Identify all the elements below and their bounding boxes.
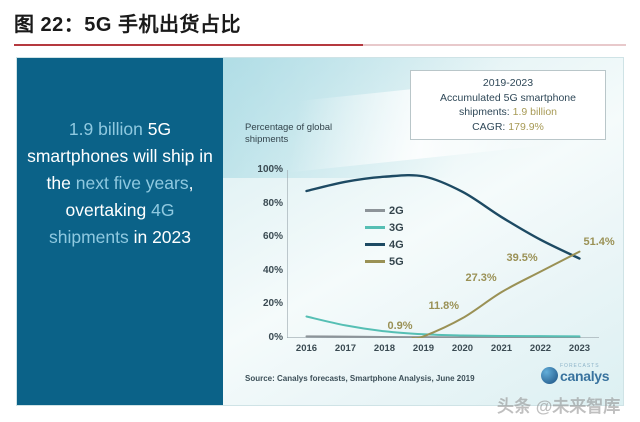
data-label-5g-2023: 51.4% bbox=[584, 236, 615, 248]
y-tick-20pct: 20% bbox=[243, 298, 283, 309]
x-tick-2023: 2023 bbox=[560, 343, 599, 359]
x-tick-2021: 2021 bbox=[482, 343, 521, 359]
globe-icon bbox=[541, 367, 558, 384]
callout-text: 2019-2023 Accumulated 5G smartphone ship… bbox=[440, 76, 576, 134]
y-axis-title: Percentage of global shipments bbox=[245, 122, 365, 146]
legend-item-5G[interactable]: 5G bbox=[365, 253, 404, 270]
line-chart-svg bbox=[287, 170, 599, 338]
source-note: Source: Canalys forecasts, Smartphone An… bbox=[245, 374, 475, 383]
data-label-5g-2020: 11.8% bbox=[429, 300, 460, 312]
callout-box: 2019-2023 Accumulated 5G smartphone ship… bbox=[410, 70, 606, 140]
data-label-5g-2022: 39.5% bbox=[507, 252, 538, 264]
callout-line-4: CAGR: 179.9% bbox=[440, 120, 576, 135]
x-tick-2016: 2016 bbox=[287, 343, 326, 359]
legend-item-2G[interactable]: 2G bbox=[365, 202, 404, 219]
chart-axes bbox=[287, 170, 599, 338]
series-line-5G bbox=[413, 252, 580, 338]
y-axis-tick-labels: 0%20%40%60%80%100% bbox=[237, 163, 283, 345]
y-tick-80pct: 80% bbox=[243, 198, 283, 209]
series-line-3G bbox=[307, 316, 580, 336]
data-label-5g-2021: 27.3% bbox=[466, 272, 497, 284]
legend-label-5G: 5G bbox=[389, 256, 404, 268]
quote-panel: 1.9 billion 5G smartphones will ship in … bbox=[17, 58, 223, 405]
legend-swatch-4G bbox=[365, 243, 385, 246]
legend-swatch-3G bbox=[365, 226, 385, 229]
x-tick-2017: 2017 bbox=[326, 343, 365, 359]
x-tick-2020: 2020 bbox=[443, 343, 482, 359]
x-tick-2022: 2022 bbox=[521, 343, 560, 359]
callout-line-3: shipments: 1.9 billion bbox=[440, 105, 576, 120]
caption-divider bbox=[14, 44, 626, 46]
plot-area bbox=[287, 170, 599, 338]
quote-segment-3: next five years bbox=[76, 173, 189, 193]
quote-segment-6: in 2023 bbox=[129, 227, 191, 247]
page-title: 图 22：5G 手机出货占比 bbox=[14, 8, 241, 37]
legend-swatch-2G bbox=[365, 209, 385, 212]
y-tick-100pct: 100% bbox=[243, 164, 283, 175]
logo-wordmark: canalys bbox=[560, 368, 609, 384]
x-axis-tick-labels: 20162017201820192020202120222023 bbox=[287, 343, 599, 359]
quote-text: 1.9 billion 5G smartphones will ship in … bbox=[27, 116, 213, 251]
chart-panel: 2019-2023 Accumulated 5G smartphone ship… bbox=[223, 58, 623, 405]
chart-legend: 2G3G4G5G bbox=[365, 202, 404, 270]
canalys-logo: FORECASTS canalys bbox=[541, 364, 623, 390]
chart-series-lines bbox=[307, 175, 580, 338]
callout-line-1: 2019-2023 bbox=[440, 76, 576, 91]
y-tick-40pct: 40% bbox=[243, 265, 283, 276]
y-tick-0pct: 0% bbox=[243, 332, 283, 343]
series-line-4G bbox=[307, 175, 580, 258]
x-tick-2019: 2019 bbox=[404, 343, 443, 359]
slide-image: 1.9 billion 5G smartphones will ship in … bbox=[17, 58, 623, 405]
legend-label-2G: 2G bbox=[389, 205, 404, 217]
callout-line-3-prefix: shipments: bbox=[459, 106, 513, 118]
quote-segment-0: 1.9 billion bbox=[69, 119, 148, 139]
legend-swatch-5G bbox=[365, 260, 385, 263]
legend-label-3G: 3G bbox=[389, 222, 404, 234]
callout-line-4-value: 179.9% bbox=[508, 121, 544, 133]
data-label-5g-2019: 0.9% bbox=[388, 320, 413, 332]
figure-caption-bar: 图 22：5G 手机出货占比 bbox=[0, 0, 640, 50]
legend-item-3G[interactable]: 3G bbox=[365, 219, 404, 236]
legend-item-4G[interactable]: 4G bbox=[365, 236, 404, 253]
callout-line-4-prefix: CAGR: bbox=[472, 121, 508, 133]
callout-line-2: Accumulated 5G smartphone bbox=[440, 91, 576, 106]
callout-line-3-value: 1.9 billion bbox=[513, 106, 557, 118]
y-tick-60pct: 60% bbox=[243, 231, 283, 242]
quote-segment-1: 5G bbox=[148, 119, 171, 139]
legend-label-4G: 4G bbox=[389, 239, 404, 251]
x-tick-2018: 2018 bbox=[365, 343, 404, 359]
watermark: 头条 @未来智库 bbox=[497, 392, 620, 417]
